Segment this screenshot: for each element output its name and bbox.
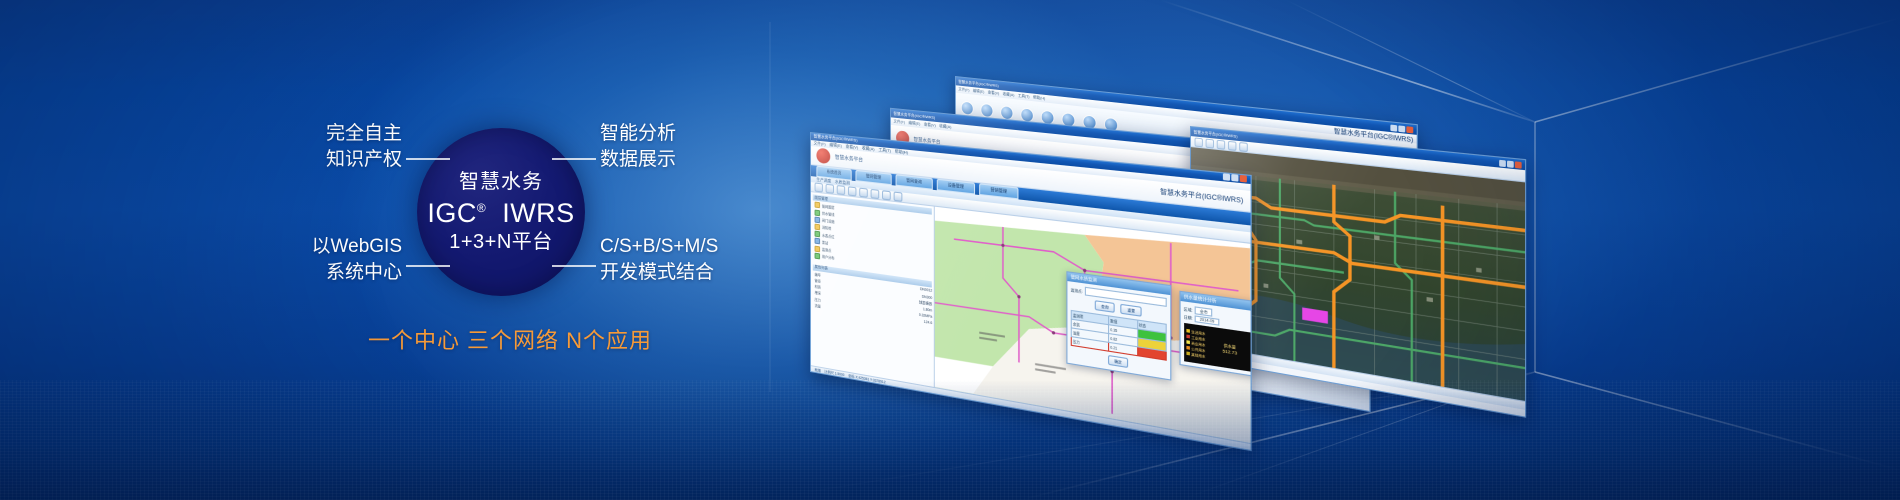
maximize-icon[interactable] <box>1398 125 1405 132</box>
select-icon[interactable] <box>871 189 880 199</box>
attr-name: 压力 <box>815 296 821 302</box>
layers-icon[interactable] <box>1239 142 1248 152</box>
feature-bottom-right-line2: 开发模式结合 <box>600 260 718 286</box>
menu-item[interactable]: 收藏(A) <box>1003 91 1015 98</box>
print-icon[interactable] <box>894 192 903 202</box>
gis-map-canvas[interactable]: 管网水质监测 监测点: 查询 重置 <box>935 207 1250 443</box>
tagline: 一个中心 三个网络 N个应用 <box>300 323 720 355</box>
feature-label-top-left: 完全自主 知识产权 <box>232 121 402 172</box>
connector-line-top-right <box>552 158 596 160</box>
zoom-out-icon[interactable] <box>859 188 868 198</box>
layer-icon <box>815 216 821 223</box>
dialog-water-quality[interactable]: 管网水质监测 监测点: 查询 重置 <box>1066 271 1171 381</box>
feature-bottom-left-line1: 以WebGIS <box>232 234 402 260</box>
legend-swatch <box>1186 329 1189 333</box>
feature-bottom-right-line1: C/S+B/S+M/S <box>600 234 718 260</box>
pan-icon[interactable] <box>837 185 845 195</box>
hub-line-1: 智慧水务 <box>459 171 543 193</box>
tree-item-label: 消防栓 <box>822 225 831 231</box>
brand-name: 智慧水务平台 <box>835 154 863 164</box>
layer-icon <box>815 209 821 216</box>
menu-item[interactable]: 查看(V) <box>924 122 936 129</box>
legend-label: 其他用水 <box>1191 352 1205 359</box>
connector-line-top-left <box>406 158 450 160</box>
feature-top-left-line1: 完全自主 <box>232 121 402 147</box>
close-icon[interactable] <box>1406 126 1413 133</box>
attr-name: 编号 <box>815 272 821 278</box>
zoom-in-icon[interactable] <box>848 187 856 197</box>
tree-item-label: 泵站 <box>822 239 828 245</box>
maximize-icon[interactable] <box>1507 160 1514 167</box>
layer-icon <box>815 238 821 245</box>
attr-value: 124.6 <box>924 320 932 325</box>
attr-name: 管径 <box>815 278 821 284</box>
menu-item[interactable]: 编辑(E) <box>908 120 920 127</box>
hub-product-suffix: IWRS <box>502 198 575 228</box>
minimize-icon[interactable] <box>1499 159 1506 166</box>
company-logo-icon <box>816 148 830 165</box>
feature-top-right-line2: 数据展示 <box>600 147 676 173</box>
status-item: 就绪 <box>815 367 821 373</box>
monitor-field-label: 监测点: <box>1071 286 1083 293</box>
app-window-front-gis[interactable]: 智慧水务平台(IGC®IWRS) 文件(F) 编辑(E) 查看(V) 收藏(A)… <box>810 132 1252 451</box>
attr-name: 埋深 <box>815 290 821 296</box>
menu-item[interactable]: 工具(T) <box>1018 93 1030 100</box>
layer-tree-panel[interactable]: 图层管理 管网图层 供水管线 阀门设施 消防栓 水表点位 泵站 监测点 用户分布… <box>811 192 935 387</box>
platform-title: 智慧水务平台(IGC®IWRS) <box>1160 186 1243 205</box>
feature-top-left-line2: 知识产权 <box>232 147 402 173</box>
floor-texture <box>0 380 1900 500</box>
connector-line-bottom-right <box>552 265 596 267</box>
menu-item[interactable]: 编辑(E) <box>973 88 984 95</box>
layer-icon <box>815 231 821 238</box>
measure-icon[interactable] <box>1228 140 1236 150</box>
pie-legend: 生活用水 工业用水 商业用水 公共用水 其他用水 <box>1186 328 1205 358</box>
menu-item[interactable]: 收藏(A) <box>939 123 951 130</box>
hub-product-code: IGC <box>427 198 477 228</box>
confirm-button[interactable]: 确定 <box>1108 355 1129 368</box>
menu-item[interactable]: 文件(F) <box>893 119 904 126</box>
pan-icon[interactable] <box>1195 137 1203 147</box>
dialog-body: 监测点: 查询 重置 监测项 数值 <box>1067 281 1170 379</box>
legend-swatch <box>1186 340 1189 344</box>
feature-top-right-line1: 智能分析 <box>600 121 676 147</box>
legend-swatch <box>1186 351 1189 355</box>
menu-item[interactable]: 帮助(H) <box>1033 95 1045 102</box>
attr-name: 流量 <box>815 303 821 309</box>
tree-item-label: 供水管线 <box>822 211 835 218</box>
close-icon[interactable] <box>1515 161 1522 168</box>
screenshot-stack: 智慧水务平台(IGC®IWRS) 文件(F) 编辑(E) 查看(V) 收藏(A)… <box>770 28 1530 368</box>
feature-label-bottom-left: 以WebGIS 系统中心 <box>232 234 402 285</box>
attr-value: DN0012 <box>920 287 932 293</box>
tree-item-label: 阀门设施 <box>822 218 835 225</box>
save-icon[interactable] <box>826 184 834 194</box>
tree-item-label: 管网图层 <box>822 203 835 210</box>
pie-kpi: 供水量 512.73 <box>1209 340 1251 358</box>
hub-line-2: IGC® IWRS <box>427 198 574 228</box>
layer-icon <box>815 224 821 231</box>
legend-swatch <box>1186 346 1189 350</box>
menu-item[interactable]: 查看(V) <box>988 90 1000 97</box>
registered-mark-icon: ® <box>477 201 486 215</box>
tree-item-label: 监测点 <box>822 247 831 253</box>
product-hub-circle: 智慧水务 IGC® IWRS 1+3+N平台 <box>417 128 585 296</box>
menu-item[interactable]: 文件(F) <box>958 86 969 93</box>
reset-button[interactable]: 重置 <box>1121 304 1142 317</box>
attr-name: 材质 <box>815 284 821 290</box>
promo-banner: 智慧水务 IGC® IWRS 1+3+N平台 完全自主 知识产权 以WebGIS… <box>0 0 1900 500</box>
layer-icon <box>815 245 821 252</box>
date-label: 日期: <box>1184 314 1193 321</box>
open-icon[interactable] <box>815 183 823 193</box>
layer-icon <box>815 202 821 209</box>
region-label: 区域: <box>1184 305 1193 312</box>
connector-line-bottom-left <box>406 265 450 267</box>
attr-value: DN300 <box>922 294 932 300</box>
layer-icon <box>815 252 821 259</box>
tree-item-label: 水表点位 <box>822 232 835 239</box>
minimize-icon[interactable] <box>1390 124 1397 131</box>
zoom-in-icon[interactable] <box>1206 138 1214 148</box>
legend-swatch <box>1186 335 1189 339</box>
feature-label-top-right: 智能分析 数据展示 <box>600 121 676 172</box>
query-button[interactable]: 查询 <box>1094 300 1115 313</box>
feature-bottom-left-line2: 系统中心 <box>232 260 402 286</box>
collect-icon <box>961 101 974 116</box>
identify-icon[interactable] <box>882 190 891 200</box>
feature-label-bottom-right: C/S+B/S+M/S 开发模式结合 <box>600 234 718 285</box>
tree-item-label: 用户分布 <box>822 254 835 261</box>
window-controls[interactable] <box>1499 159 1522 168</box>
hub-line-3: 1+3+N平台 <box>449 231 553 253</box>
zoom-out-icon[interactable] <box>1217 139 1225 149</box>
attr-value: 1.80m <box>923 307 932 313</box>
